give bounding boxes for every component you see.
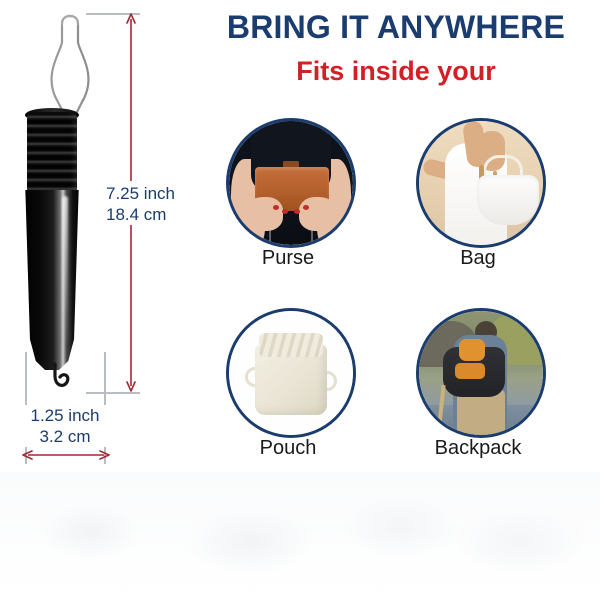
pouch-caption: Pouch <box>206 436 370 460</box>
backpack-photo <box>419 311 543 435</box>
purse-caption: Purse <box>206 246 370 270</box>
fit-item-bag: Bag <box>416 118 546 248</box>
pouch-photo <box>229 311 353 435</box>
length-dimension-label: 7.25 inch 18.4 cm <box>106 183 192 225</box>
bag-photo-circle <box>416 118 546 248</box>
width-dimension-label: 1.25 inch 3.2 cm <box>16 405 114 447</box>
width-inch-value: 1.25 inch <box>16 405 114 426</box>
purse-photo-circle <box>226 118 356 248</box>
backpack-caption: Backpack <box>396 436 560 460</box>
handle-highlight <box>62 196 68 346</box>
bag-photo <box>419 121 543 245</box>
fit-item-backpack: Backpack <box>416 308 546 438</box>
width-cm-value: 3.2 cm <box>16 426 114 447</box>
backpack-photo-circle <box>416 308 546 438</box>
horizontal-dimension-arrow <box>22 448 110 462</box>
hook-icon <box>40 362 76 404</box>
handle-ribbed-grip <box>27 112 77 194</box>
length-inch-value: 7.25 inch <box>106 183 192 204</box>
page-title: BRING IT ANYWHERE <box>196 8 596 46</box>
page-subtitle: Fits inside your <box>196 54 596 88</box>
product-infographic: BRING IT ANYWHERE Fits inside your 7.25 … <box>0 0 600 600</box>
fit-item-pouch: Pouch <box>226 308 356 438</box>
length-cm-value: 18.4 cm <box>106 204 192 225</box>
faded-background-band <box>0 472 600 600</box>
pouch-photo-circle <box>226 308 356 438</box>
fit-item-purse: Purse <box>226 118 356 248</box>
bag-caption: Bag <box>396 246 560 270</box>
handle-body <box>23 190 81 370</box>
wire-loop-icon <box>36 12 104 118</box>
purse-photo <box>229 121 353 245</box>
